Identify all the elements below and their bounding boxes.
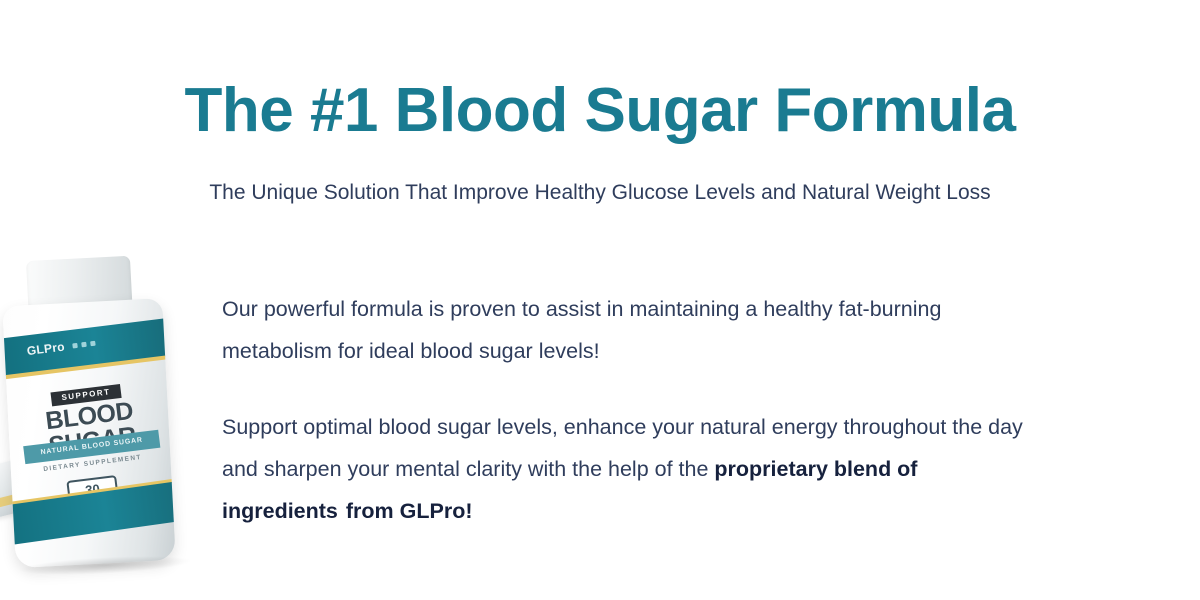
paragraph-two-line-two-plain: and sharpen your mental clarity with the… bbox=[222, 457, 714, 481]
paragraph-two-line-one: Support optimal blood sugar levels, enha… bbox=[222, 406, 1200, 448]
paragraph-two-line-two: and sharpen your mental clarity with the… bbox=[222, 448, 1200, 490]
product-bottle-image: GLPro SUPPORT BLOOD SUGAR NATURAL BLOOD … bbox=[0, 252, 209, 582]
brand-dots-icon bbox=[72, 340, 95, 348]
paragraph-one-line-two: metabolism for ideal blood sugar levels! bbox=[222, 330, 1200, 372]
paragraph-two-line-two-bold: proprietary blend of bbox=[714, 457, 917, 481]
paragraph-two: Support optimal blood sugar levels, enha… bbox=[222, 406, 1200, 532]
landing-hero-section: The #1 Blood Sugar Formula The Unique So… bbox=[0, 0, 1200, 600]
paragraph-two-line-three: ingredientsfrom GLPro! bbox=[222, 490, 1200, 532]
primary-bottle: GLPro SUPPORT BLOOD SUGAR NATURAL BLOOD … bbox=[0, 254, 186, 573]
paragraph-one: Our powerful formula is proven to assist… bbox=[222, 288, 1200, 372]
bottle-body: GLPro SUPPORT BLOOD SUGAR NATURAL BLOOD … bbox=[2, 298, 175, 568]
paragraph-two-line-three-bold-a: ingredients bbox=[222, 499, 338, 523]
paragraph-one-line-one: Our powerful formula is proven to assist… bbox=[222, 288, 1200, 330]
body-copy: Our powerful formula is proven to assist… bbox=[222, 288, 1200, 532]
paragraph-two-line-three-bold-b: from GLPro! bbox=[346, 499, 473, 523]
page-subtitle: The Unique Solution That Improve Healthy… bbox=[0, 179, 1200, 206]
page-title: The #1 Blood Sugar Formula bbox=[0, 78, 1200, 143]
